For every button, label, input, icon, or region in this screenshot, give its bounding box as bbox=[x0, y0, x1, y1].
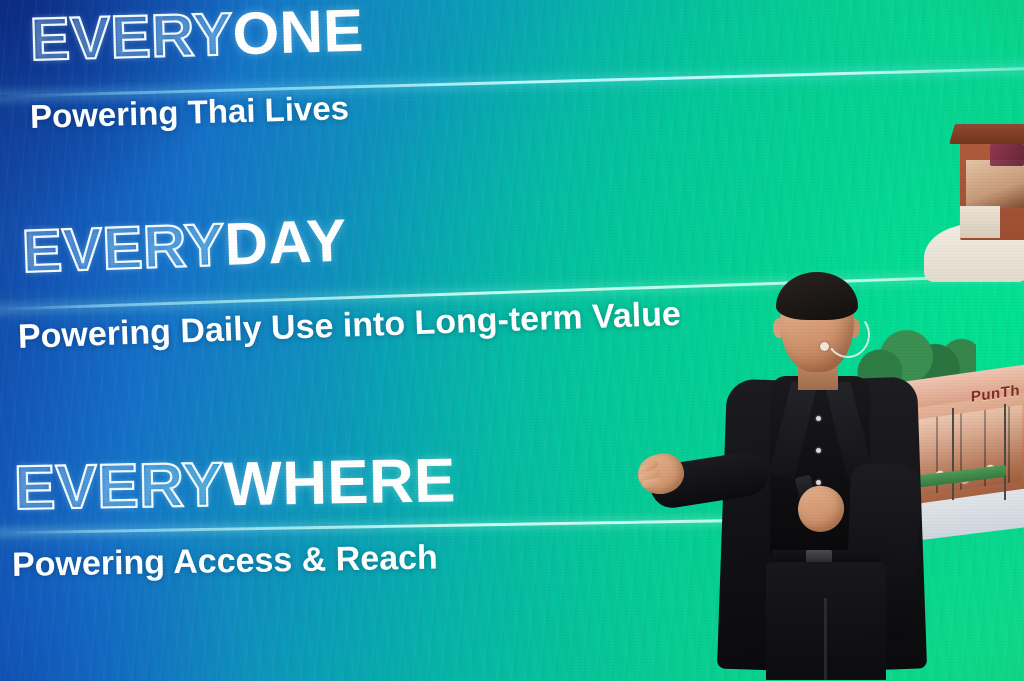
headline-everywhere: EVERYWHERE bbox=[13, 450, 456, 520]
headline-everywhere-hollow: EVERY bbox=[13, 450, 224, 523]
slide-photo-stage: PunTh EVERYONE Powering Thai Lives EVERY… bbox=[0, 0, 1024, 681]
shirt-button bbox=[816, 416, 821, 421]
headset-microphone-bud bbox=[820, 342, 829, 351]
shirt-button bbox=[816, 448, 821, 453]
presenter-figure bbox=[630, 268, 960, 681]
headline-everyone: EVERYONE bbox=[29, 1, 364, 70]
shirt-button bbox=[816, 480, 821, 485]
headline-everyone-hollow: EVERY bbox=[29, 0, 233, 73]
presenter-leg-seam bbox=[824, 598, 827, 680]
headline-everywhere-solid: WHERE bbox=[223, 446, 456, 519]
headline-everyday-hollow: EVERY bbox=[21, 211, 226, 285]
headline-everyone-solid: ONE bbox=[232, 0, 365, 67]
finger bbox=[641, 478, 662, 488]
subline-everywhere: Powering Access & Reach bbox=[12, 541, 438, 582]
headline-everyday: EVERYDAY bbox=[21, 211, 348, 282]
headline-everyday-solid: DAY bbox=[223, 207, 347, 278]
subline-everyone: Powering Thai Lives bbox=[30, 91, 350, 133]
